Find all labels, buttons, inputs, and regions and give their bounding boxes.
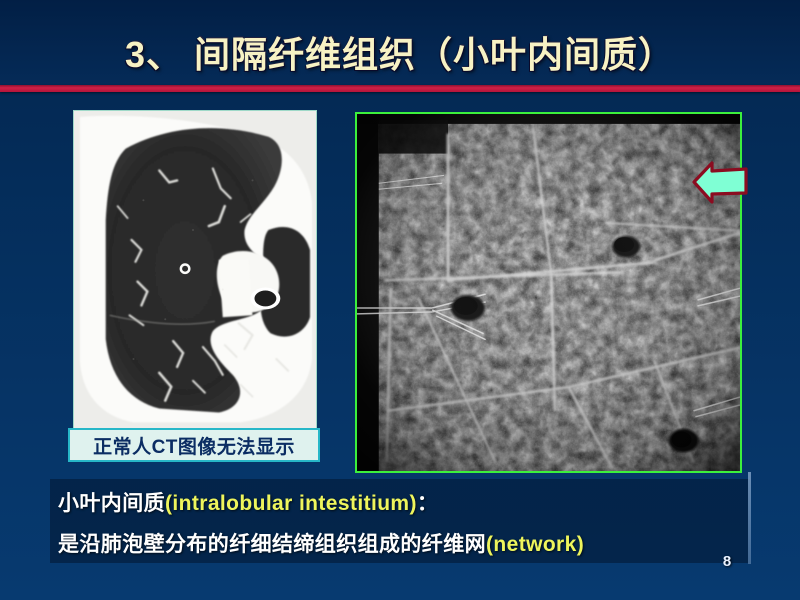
- body-line-1-cn: 小叶内间质: [58, 492, 165, 515]
- body-line-2-en: (network): [486, 533, 584, 556]
- normal-lung-ct-image: [74, 111, 316, 428]
- sem-annotation-arrow-wrap: [690, 160, 750, 204]
- title-divider: [0, 85, 800, 92]
- body-line-2-cn: 是沿肺泡壁分布的纤细结缔组织组成的纤维网: [58, 533, 486, 556]
- body-line-1: 小叶内间质(intralobular intestitium)：: [58, 487, 438, 517]
- body-line-1-en: (intralobular intestitium): [165, 492, 417, 515]
- lung-interstitium-sem-image: [357, 114, 740, 471]
- figure-right-sem: [355, 112, 742, 473]
- slide-canvas: 3、 间隔纤维组织（小叶内间质）: [0, 0, 800, 600]
- figure-left-ct: [73, 110, 317, 430]
- figure-left-caption: 正常人CT图像无法显示: [68, 428, 320, 462]
- arrow-left-icon: [690, 160, 750, 204]
- right-vertical-rule: [748, 472, 751, 564]
- body-line-2: 是沿肺泡壁分布的纤细结缔组织组成的纤维网(network): [58, 528, 584, 558]
- page-number: 8: [714, 553, 740, 570]
- page-title: 3、 间隔纤维组织（小叶内间质）: [0, 26, 800, 78]
- caption-text: 正常人CT图像无法显示: [93, 432, 295, 459]
- body-line-1-colon: ：: [417, 492, 438, 515]
